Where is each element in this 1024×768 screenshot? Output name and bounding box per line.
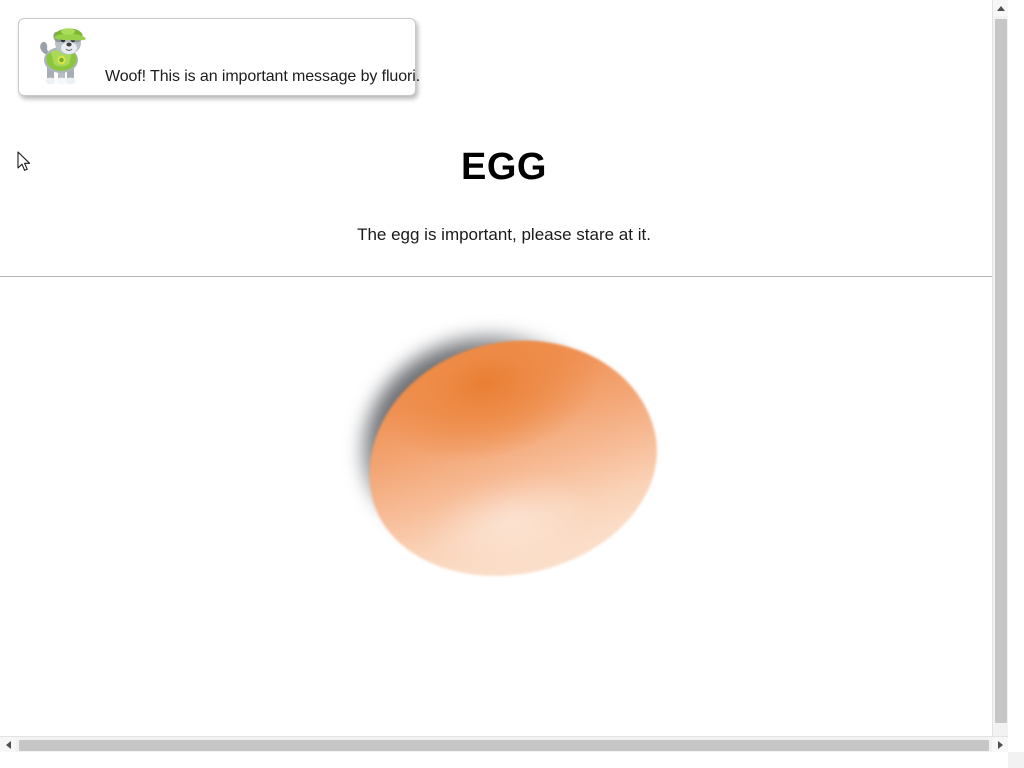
notification-toast[interactable]: Woof! This is an important message by fl… [18, 18, 416, 96]
vertical-scrollbar[interactable] [992, 0, 1008, 752]
scroll-right-arrow-icon[interactable] [992, 737, 1008, 752]
section-divider [0, 276, 1008, 277]
egg-image [355, 330, 665, 585]
cartoon-dog-icon [37, 24, 89, 90]
page-subtitle: The egg is important, please stare at it… [0, 225, 1008, 245]
page-title: EGG [0, 146, 1008, 189]
scrollbar-corner [1008, 752, 1024, 768]
horizontal-scrollbar[interactable] [0, 736, 1008, 752]
scroll-up-arrow-icon[interactable] [993, 0, 1008, 16]
scroll-left-arrow-icon[interactable] [0, 737, 16, 752]
horizontal-scrollbar-thumb[interactable] [19, 740, 989, 751]
page-viewport: Woof! This is an important message by fl… [0, 0, 1008, 752]
vertical-scrollbar-thumb[interactable] [995, 19, 1007, 723]
notification-message: Woof! This is an important message by fl… [105, 68, 420, 86]
